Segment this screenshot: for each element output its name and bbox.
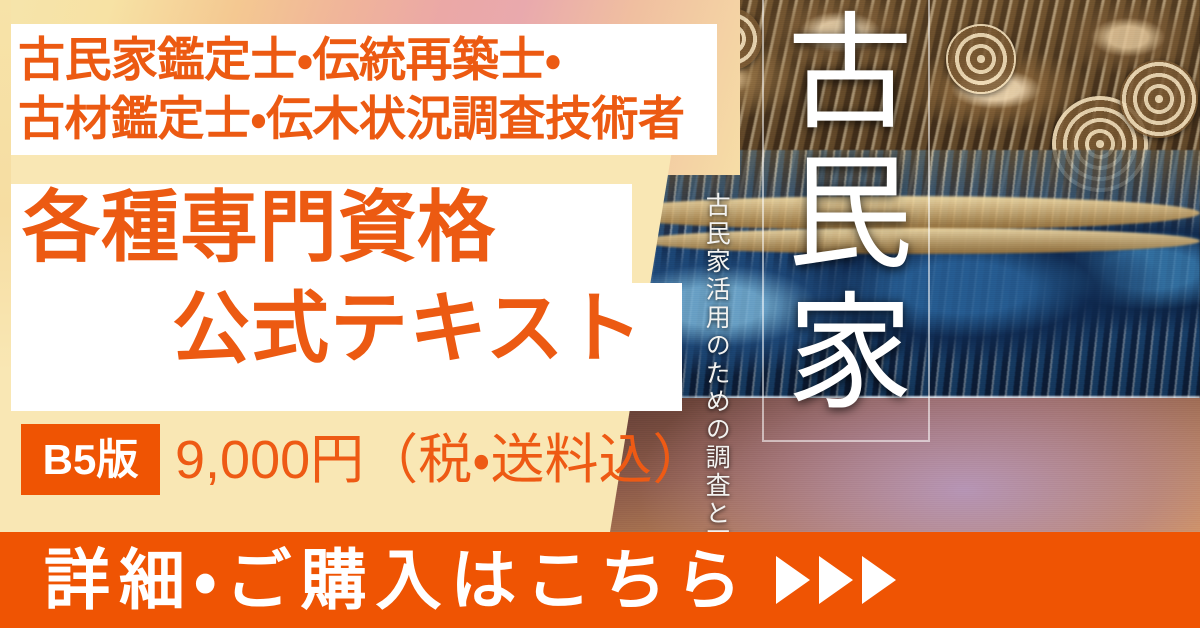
left-edge-strip [0,0,11,532]
cta-arrow-group [776,556,896,604]
triangle-right-icon [862,556,896,604]
format-badge: B5版 [21,424,160,495]
cta-label: 詳細・ご購入はこちら [44,547,750,613]
format-badge-label: B5版 [43,439,139,481]
headline-line-1: 各種専門資格 [22,188,496,266]
book-cover-title: 古民家 [790,6,908,436]
triangle-right-icon [819,556,853,604]
headline-line-2: 公式テキスト [172,289,644,367]
price-text: 9,000円（税・送料込） [175,428,707,493]
cta-bar[interactable]: 詳細・ご購入はこちら [0,532,1200,628]
triangle-right-icon [776,556,810,604]
promo-banner: 伝統構法、古民家活用のための調査と再生の 古民家 古民家鑑定士・伝統再築士・ 古… [0,0,1200,628]
certifications-list: 古民家鑑定士・伝統再築士・ 古材鑑定士・伝木状況調査技術者 [18,30,718,148]
